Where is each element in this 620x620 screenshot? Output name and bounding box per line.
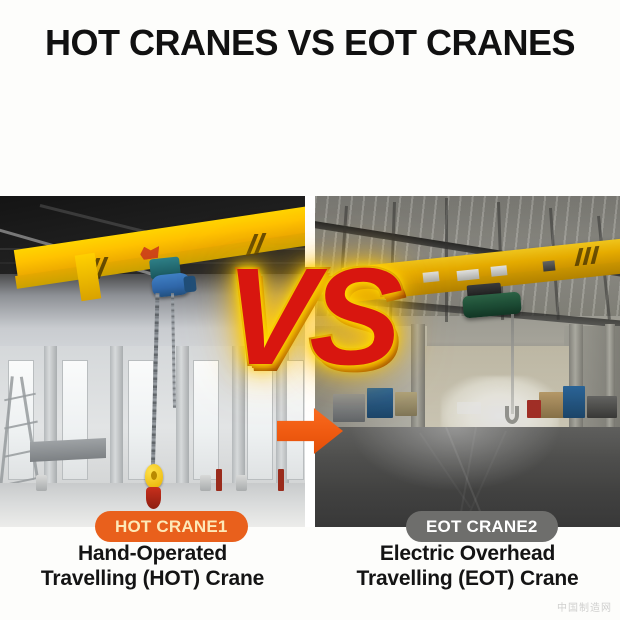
hook-left	[146, 487, 161, 509]
caption-eot-line1: Electric Overhead	[315, 541, 620, 566]
wire-rope-right	[511, 314, 514, 414]
duct-left	[30, 438, 106, 462]
watermark: 中国制造网	[557, 599, 612, 614]
caption-hot-line1: Hand-Operated	[0, 541, 305, 566]
caption-eot-line2: Travelling (EOT) Crane	[315, 566, 620, 591]
status-badge-hot-crane[interactable]: HOT CRANE1	[95, 511, 248, 542]
status-badge-eot-crane[interactable]: EOT CRANE2	[406, 511, 558, 542]
title-bar: HOT CRANES VS EOT CRANES	[0, 0, 620, 196]
caption-hot-line2: Travelling (HOT) Crane	[0, 566, 305, 591]
comparison-poster: HOT CRANES VS EOT CRANES	[0, 0, 620, 620]
page-title: HOT CRANES VS EOT CRANES	[0, 22, 620, 64]
vs-badge: VS	[196, 232, 424, 402]
caption-hot-crane: Hand-Operated Travelling (HOT) Crane	[0, 541, 305, 591]
hoist-cap-left	[183, 275, 197, 292]
vs-label: VS	[222, 248, 399, 386]
hook-block-left	[145, 464, 163, 488]
hook-right	[505, 406, 519, 424]
caption-eot-crane: Electric Overhead Travelling (EOT) Crane	[315, 541, 620, 591]
